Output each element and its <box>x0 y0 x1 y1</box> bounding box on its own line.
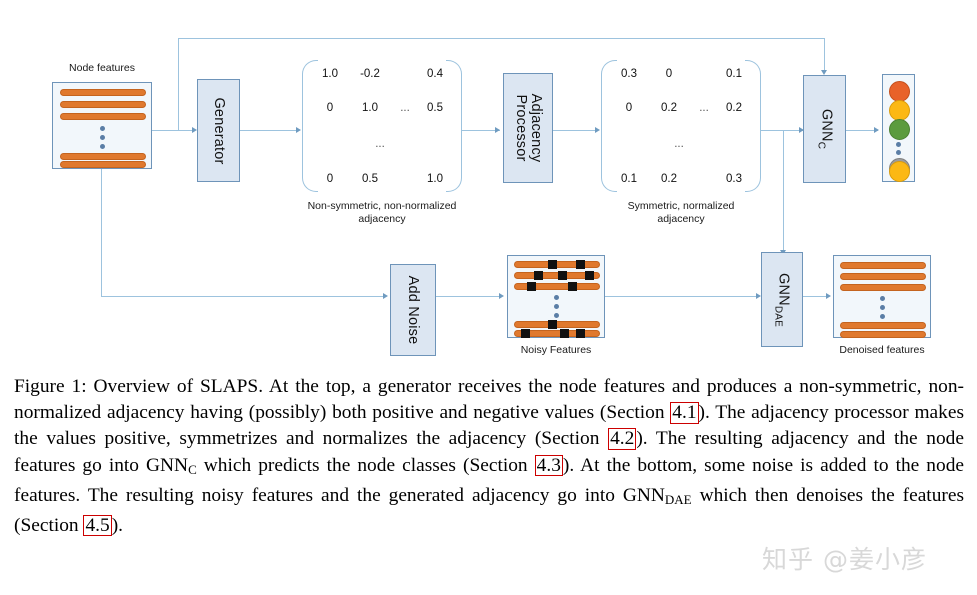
matrix-bracket-right <box>745 60 761 192</box>
arrow-into-denoised-features <box>826 293 831 299</box>
connector-gnndae-to-denoised <box>803 296 827 297</box>
ellipsis-dot <box>554 304 559 309</box>
matrix-cell: -0.2 <box>360 68 380 80</box>
feature-bar <box>514 261 600 268</box>
caption-text-7: ). <box>112 515 123 536</box>
matrix1-caption-line2: adjacency <box>292 213 472 226</box>
feature-bar <box>60 153 146 160</box>
feature-bar <box>840 331 926 338</box>
ellipsis-dot <box>100 126 105 131</box>
matrix-cell: 0.3 <box>621 68 637 80</box>
ellipsis-dot <box>100 144 105 149</box>
matrix-cell-ellipsis: ... <box>674 138 684 150</box>
gnndae-label: GNNDAE <box>773 273 792 327</box>
caption-text-4: which predicts the node classes (Section <box>197 455 535 476</box>
add-noise-box: Add Noise <box>390 264 436 356</box>
connector-matrix2-to-gnnc <box>761 130 803 131</box>
feature-bar <box>514 321 600 328</box>
ellipsis-dot <box>554 313 559 318</box>
generator-label: Generator <box>211 97 227 164</box>
caption-gnnc-subscript: C <box>188 462 197 477</box>
node-features-box <box>52 82 152 169</box>
feature-bar <box>840 322 926 329</box>
feature-bar <box>60 161 146 168</box>
matrix2-caption-line1: Symmetric, normalized <box>591 200 771 213</box>
connector-adjacency-to-gnndae <box>783 130 784 250</box>
ellipsis-dot <box>880 314 885 319</box>
connector-noisy-to-gnndae <box>605 296 757 297</box>
gnnc-label-main: GNN <box>818 109 834 142</box>
denoised-features-label: Denoised features <box>831 344 933 357</box>
add-noise-label: Add Noise <box>405 276 421 345</box>
node-features-label: Node features <box>52 62 152 75</box>
matrix-cell: 0 <box>666 68 672 80</box>
connector-generator-to-matrix1 <box>240 130 296 131</box>
adjacency-processor-line2: Processor <box>513 94 528 163</box>
feature-bar <box>60 89 146 96</box>
matrix-cell: 0.2 <box>661 173 677 185</box>
connector-bottom-bypass-vertical <box>101 169 102 296</box>
gnnc-box: GNNC <box>803 75 846 183</box>
adjacency-processor-line1: Adjacency <box>528 94 543 163</box>
matrix-cell: 0 <box>327 173 333 185</box>
arrow-into-processor <box>495 127 500 133</box>
matrix-bracket-left <box>601 60 617 192</box>
matrix1-caption: Non-symmetric, non-normalized adjacency <box>292 200 472 226</box>
connector-features-to-generator <box>152 130 192 131</box>
matrix-cell: 0.4 <box>427 68 443 80</box>
caption-gnndae-subscript: DAE <box>665 492 692 507</box>
section-link-4-3[interactable]: 4.3 <box>535 455 563 476</box>
connector-top-bypass-right-vertical <box>824 38 825 70</box>
connector-top-bypass-horizontal <box>178 38 825 39</box>
ellipsis-dot <box>880 296 885 301</box>
matrix1-caption-line1: Non-symmetric, non-normalized <box>292 200 472 213</box>
matrix-cell: 0.1 <box>621 173 637 185</box>
matrix-cell: 0.2 <box>726 102 742 114</box>
matrix-nonsymmetric: 1.0 -0.2 0.4 0 1.0 ... 0.5 ... 0 0.5 1.0 <box>302 60 462 192</box>
noise-block <box>527 282 536 291</box>
arrow-into-noisy-features <box>499 293 504 299</box>
gnndae-label-main: GNN <box>775 273 791 306</box>
noise-block <box>576 260 585 269</box>
noise-block <box>560 329 569 338</box>
class-dot-gold <box>889 161 910 182</box>
gnndae-label-sub: DAE <box>773 305 784 326</box>
matrix-cell: 1.0 <box>427 173 443 185</box>
class-dot-orange <box>889 81 910 102</box>
ellipsis-dot <box>880 305 885 310</box>
arrow-into-matrix2 <box>595 127 600 133</box>
figure-diagram: Node features Generator 1.0 -0.2 0.4 0 1… <box>0 0 977 370</box>
connector-bottom-bypass-horizontal <box>101 296 383 297</box>
matrix-cell: 0.3 <box>726 173 742 185</box>
matrix-cell-ellipsis: ... <box>375 138 385 150</box>
ellipsis-dot <box>554 295 559 300</box>
matrix-symmetric: 0.3 0 0.1 0 0.2 ... 0.2 ... 0.1 0.2 0.3 <box>601 60 761 192</box>
feature-bar <box>840 284 926 291</box>
predicted-classes-box <box>882 74 915 182</box>
adjacency-processor-box: Adjacency Processor <box>503 73 553 183</box>
noise-block <box>548 260 557 269</box>
section-link-4-2[interactable]: 4.2 <box>608 428 636 449</box>
ellipsis-dot <box>100 135 105 140</box>
feature-bar <box>60 101 146 108</box>
noise-block <box>585 271 594 280</box>
section-link-4-5[interactable]: 4.5 <box>83 515 111 536</box>
matrix-cell: 1.0 <box>362 102 378 114</box>
matrix2-caption-line2: adjacency <box>591 213 771 226</box>
arrow-into-classes <box>874 127 879 133</box>
ellipsis-dot <box>896 142 901 147</box>
matrix-cell: 0 <box>626 102 632 114</box>
connector-processor-to-matrix2 <box>553 130 595 131</box>
noise-block <box>576 329 585 338</box>
connector-top-bypass-left-vertical <box>178 38 179 130</box>
matrix2-caption: Symmetric, normalized adjacency <box>591 200 771 226</box>
feature-bar <box>840 262 926 269</box>
feature-bar <box>60 113 146 120</box>
gnnc-label: GNNC <box>815 109 834 149</box>
section-link-4-1[interactable]: 4.1 <box>670 402 698 423</box>
noise-block <box>521 329 530 338</box>
gnndae-box: GNNDAE <box>761 252 803 347</box>
adjacency-processor-label: Adjacency Processor <box>513 94 543 163</box>
matrix-cell: 0.1 <box>726 68 742 80</box>
matrix-cell-ellipsis: ... <box>400 102 410 114</box>
matrix-cell: 0.5 <box>362 173 378 185</box>
generator-box: Generator <box>197 79 240 182</box>
connector-addnoise-to-noisy <box>436 296 500 297</box>
matrix-cell: 0.2 <box>661 102 677 114</box>
noisy-features-box <box>507 255 605 338</box>
arrow-into-matrix1 <box>296 127 301 133</box>
matrix-cell: 1.0 <box>322 68 338 80</box>
matrix-bracket-left <box>302 60 318 192</box>
feature-bar <box>840 273 926 280</box>
class-dot-gold <box>889 100 910 121</box>
figure-caption: Figure 1: Overview of SLAPS. At the top,… <box>14 374 964 539</box>
matrix-bracket-right <box>446 60 462 192</box>
watermark: 知乎 @姜小彦 <box>762 540 927 576</box>
matrix-cell-ellipsis: ... <box>699 102 709 114</box>
noise-block <box>558 271 567 280</box>
noise-block <box>548 320 557 329</box>
class-dot-green <box>889 119 910 140</box>
matrix-cell: 0.5 <box>427 102 443 114</box>
gnnc-label-sub: C <box>815 142 826 149</box>
denoised-features-box <box>833 255 931 338</box>
matrix-cell: 0 <box>327 102 333 114</box>
noise-block <box>534 271 543 280</box>
noise-block <box>568 282 577 291</box>
ellipsis-dot <box>896 150 901 155</box>
caption-prefix: Figure 1: <box>14 376 87 397</box>
noisy-features-label: Noisy Features <box>506 344 606 357</box>
arrow-into-add-noise <box>383 293 388 299</box>
